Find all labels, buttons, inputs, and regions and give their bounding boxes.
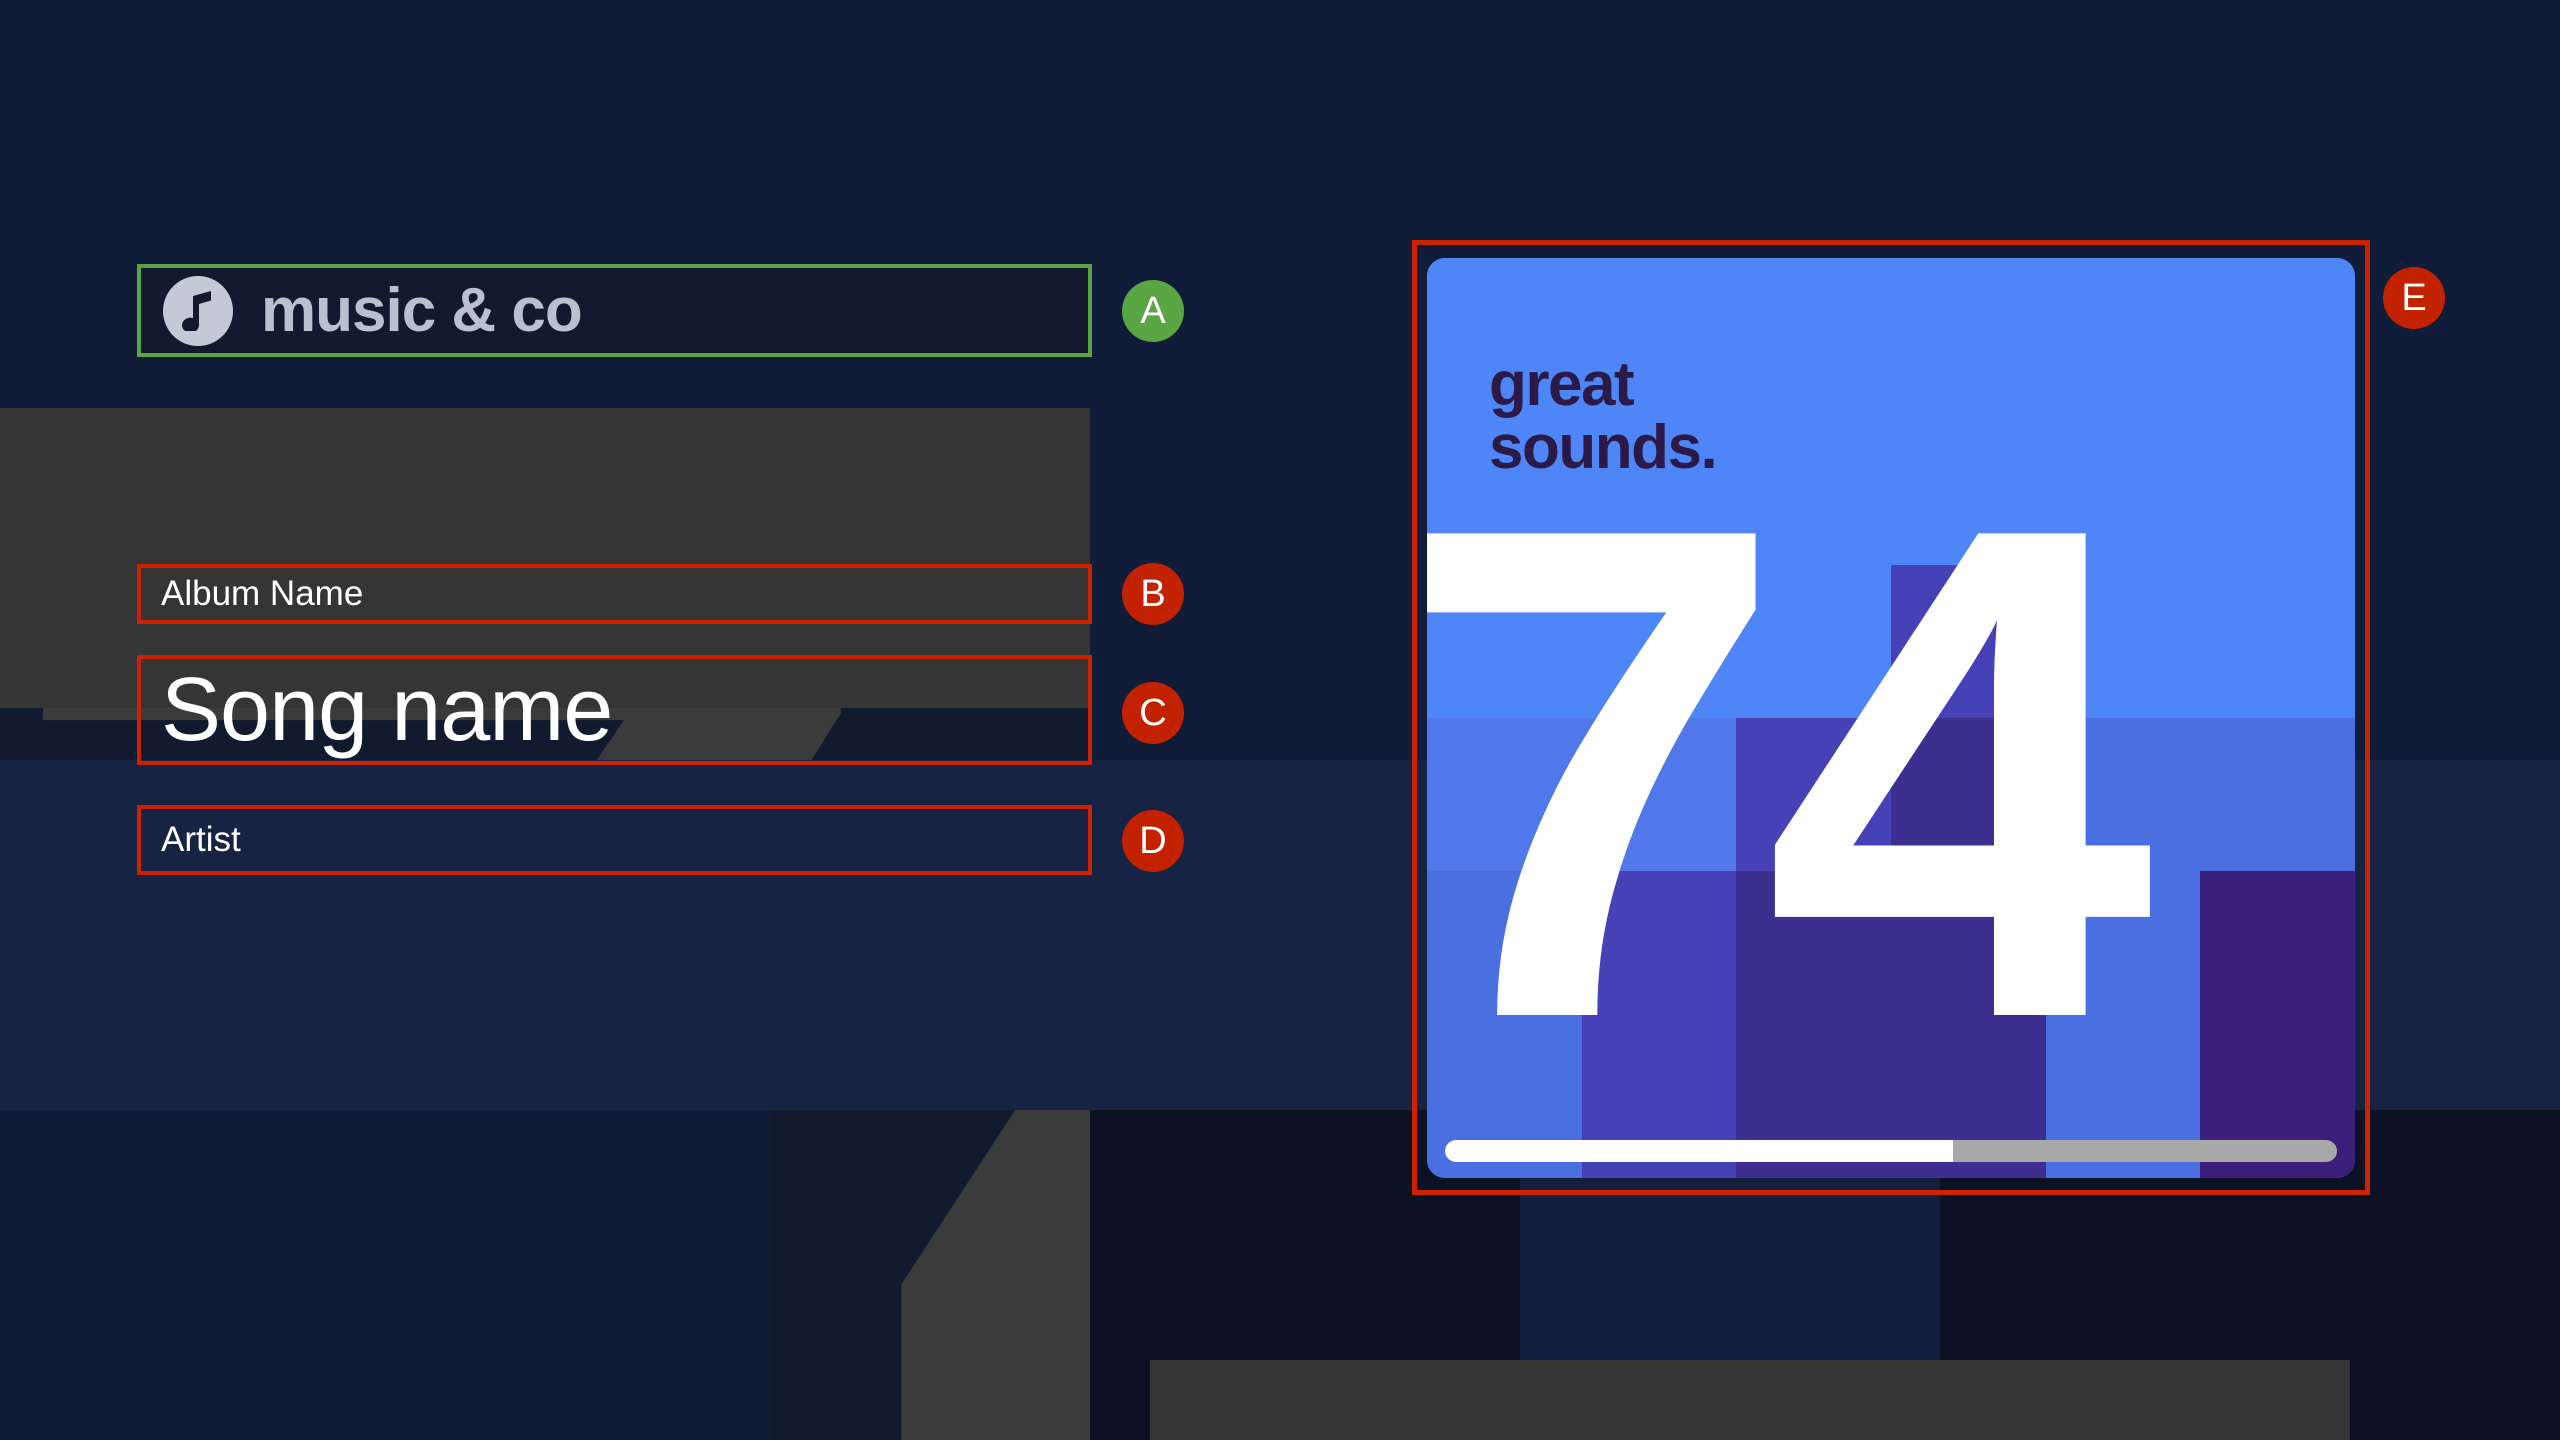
- annotation-badge-a: A: [1122, 280, 1184, 342]
- artist-name-label: Artist: [161, 820, 241, 860]
- album-name-field[interactable]: Album Name: [137, 564, 1092, 624]
- bg-tile: [1150, 1360, 2350, 1440]
- album-name-label: Album Name: [161, 574, 363, 614]
- album-art[interactable]: great sounds. 74: [1427, 258, 2355, 1178]
- album-art-big-number: 74: [1427, 423, 2132, 1123]
- music-note-icon: [163, 276, 233, 346]
- song-name-label: Song name: [161, 665, 612, 755]
- playback-progress-bar[interactable]: [1445, 1140, 2337, 1162]
- artist-name-field[interactable]: Artist: [137, 805, 1092, 875]
- annotation-badge-d: D: [1122, 810, 1184, 872]
- bg-tile: [0, 1110, 770, 1440]
- playback-progress-fill: [1445, 1140, 1953, 1162]
- song-name-field[interactable]: Song name: [137, 655, 1092, 765]
- brand-name-label: music & co: [261, 275, 582, 346]
- annotation-badge-b: B: [1122, 563, 1184, 625]
- app-window: 74 music & co Album Name Song name Artis…: [0, 0, 2560, 1440]
- annotation-badge-e: E: [2383, 267, 2445, 329]
- brand-logo[interactable]: music & co: [137, 264, 1092, 357]
- annotation-badge-c: C: [1122, 682, 1184, 744]
